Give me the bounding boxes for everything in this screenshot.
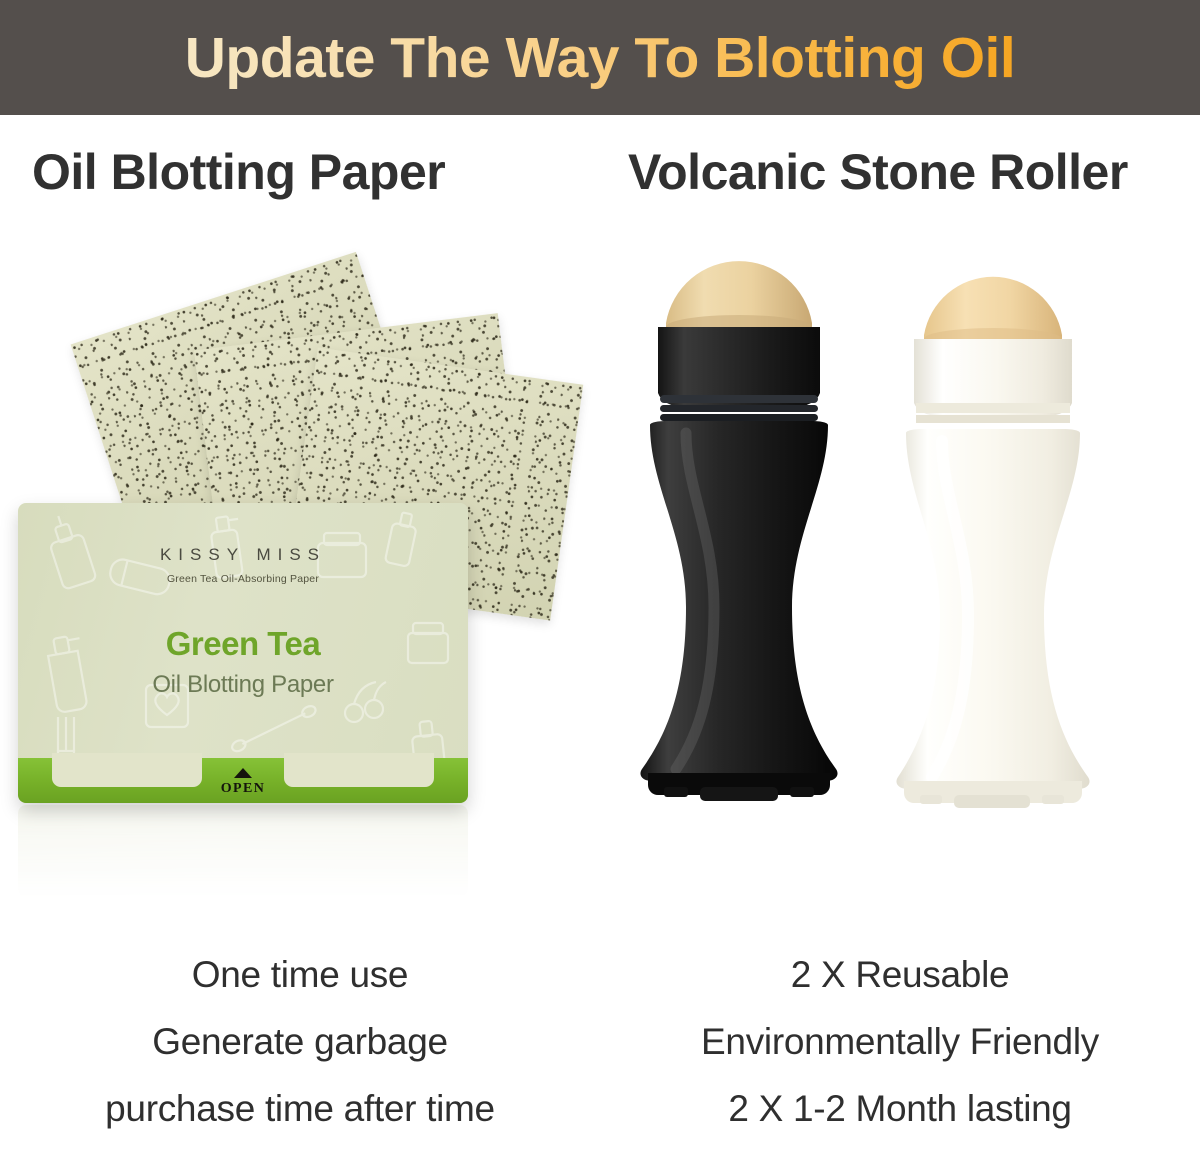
- header-banner: Update The Way To Blotting Oil: [0, 0, 1200, 115]
- right-column-heading: Volcanic Stone Roller: [600, 143, 1200, 201]
- right-caption-2: Environmentally Friendly: [701, 1009, 1099, 1076]
- left-caption-2: Generate garbage: [152, 1009, 448, 1076]
- page-title: Update The Way To Blotting Oil: [185, 25, 1015, 91]
- left-caption-3: purchase time after time: [105, 1076, 495, 1143]
- left-product-stage: OPEN: [0, 215, 600, 905]
- package-reflection: OPEN: [18, 805, 468, 897]
- right-caption-3: 2 X 1-2 Month lasting: [728, 1076, 1071, 1143]
- right-captions: 2 X Reusable Environmentally Friendly 2 …: [600, 942, 1200, 1143]
- package-box: KISSY MISS Green Tea Oil-Absorbing Paper…: [18, 503, 468, 803]
- open-arrow-icon: [234, 768, 252, 778]
- package-title: Green Tea: [18, 625, 468, 663]
- package-open-band: OPEN: [18, 758, 468, 803]
- package-brand-subtitle: Green Tea Oil-Absorbing Paper: [18, 573, 468, 585]
- column-oil-blotting-paper: Oil Blotting Paper OPEN: [0, 115, 600, 1151]
- white-roller-image: [868, 245, 1118, 865]
- comparison-columns: Oil Blotting Paper OPEN: [0, 115, 1200, 1151]
- column-volcanic-stone-roller: Volcanic Stone Roller: [600, 115, 1200, 1151]
- package-brand: KISSY MISS: [18, 545, 468, 565]
- package-subtitle: Oil Blotting Paper: [18, 671, 468, 699]
- right-product-stage: [600, 215, 1200, 905]
- right-caption-1: 2 X Reusable: [791, 942, 1010, 1009]
- left-captions: One time use Generate garbage purchase t…: [0, 942, 600, 1143]
- black-roller-image: [614, 235, 864, 855]
- left-column-heading: Oil Blotting Paper: [0, 143, 632, 201]
- left-caption-1: One time use: [192, 942, 408, 1009]
- package-open-label: OPEN: [18, 781, 468, 797]
